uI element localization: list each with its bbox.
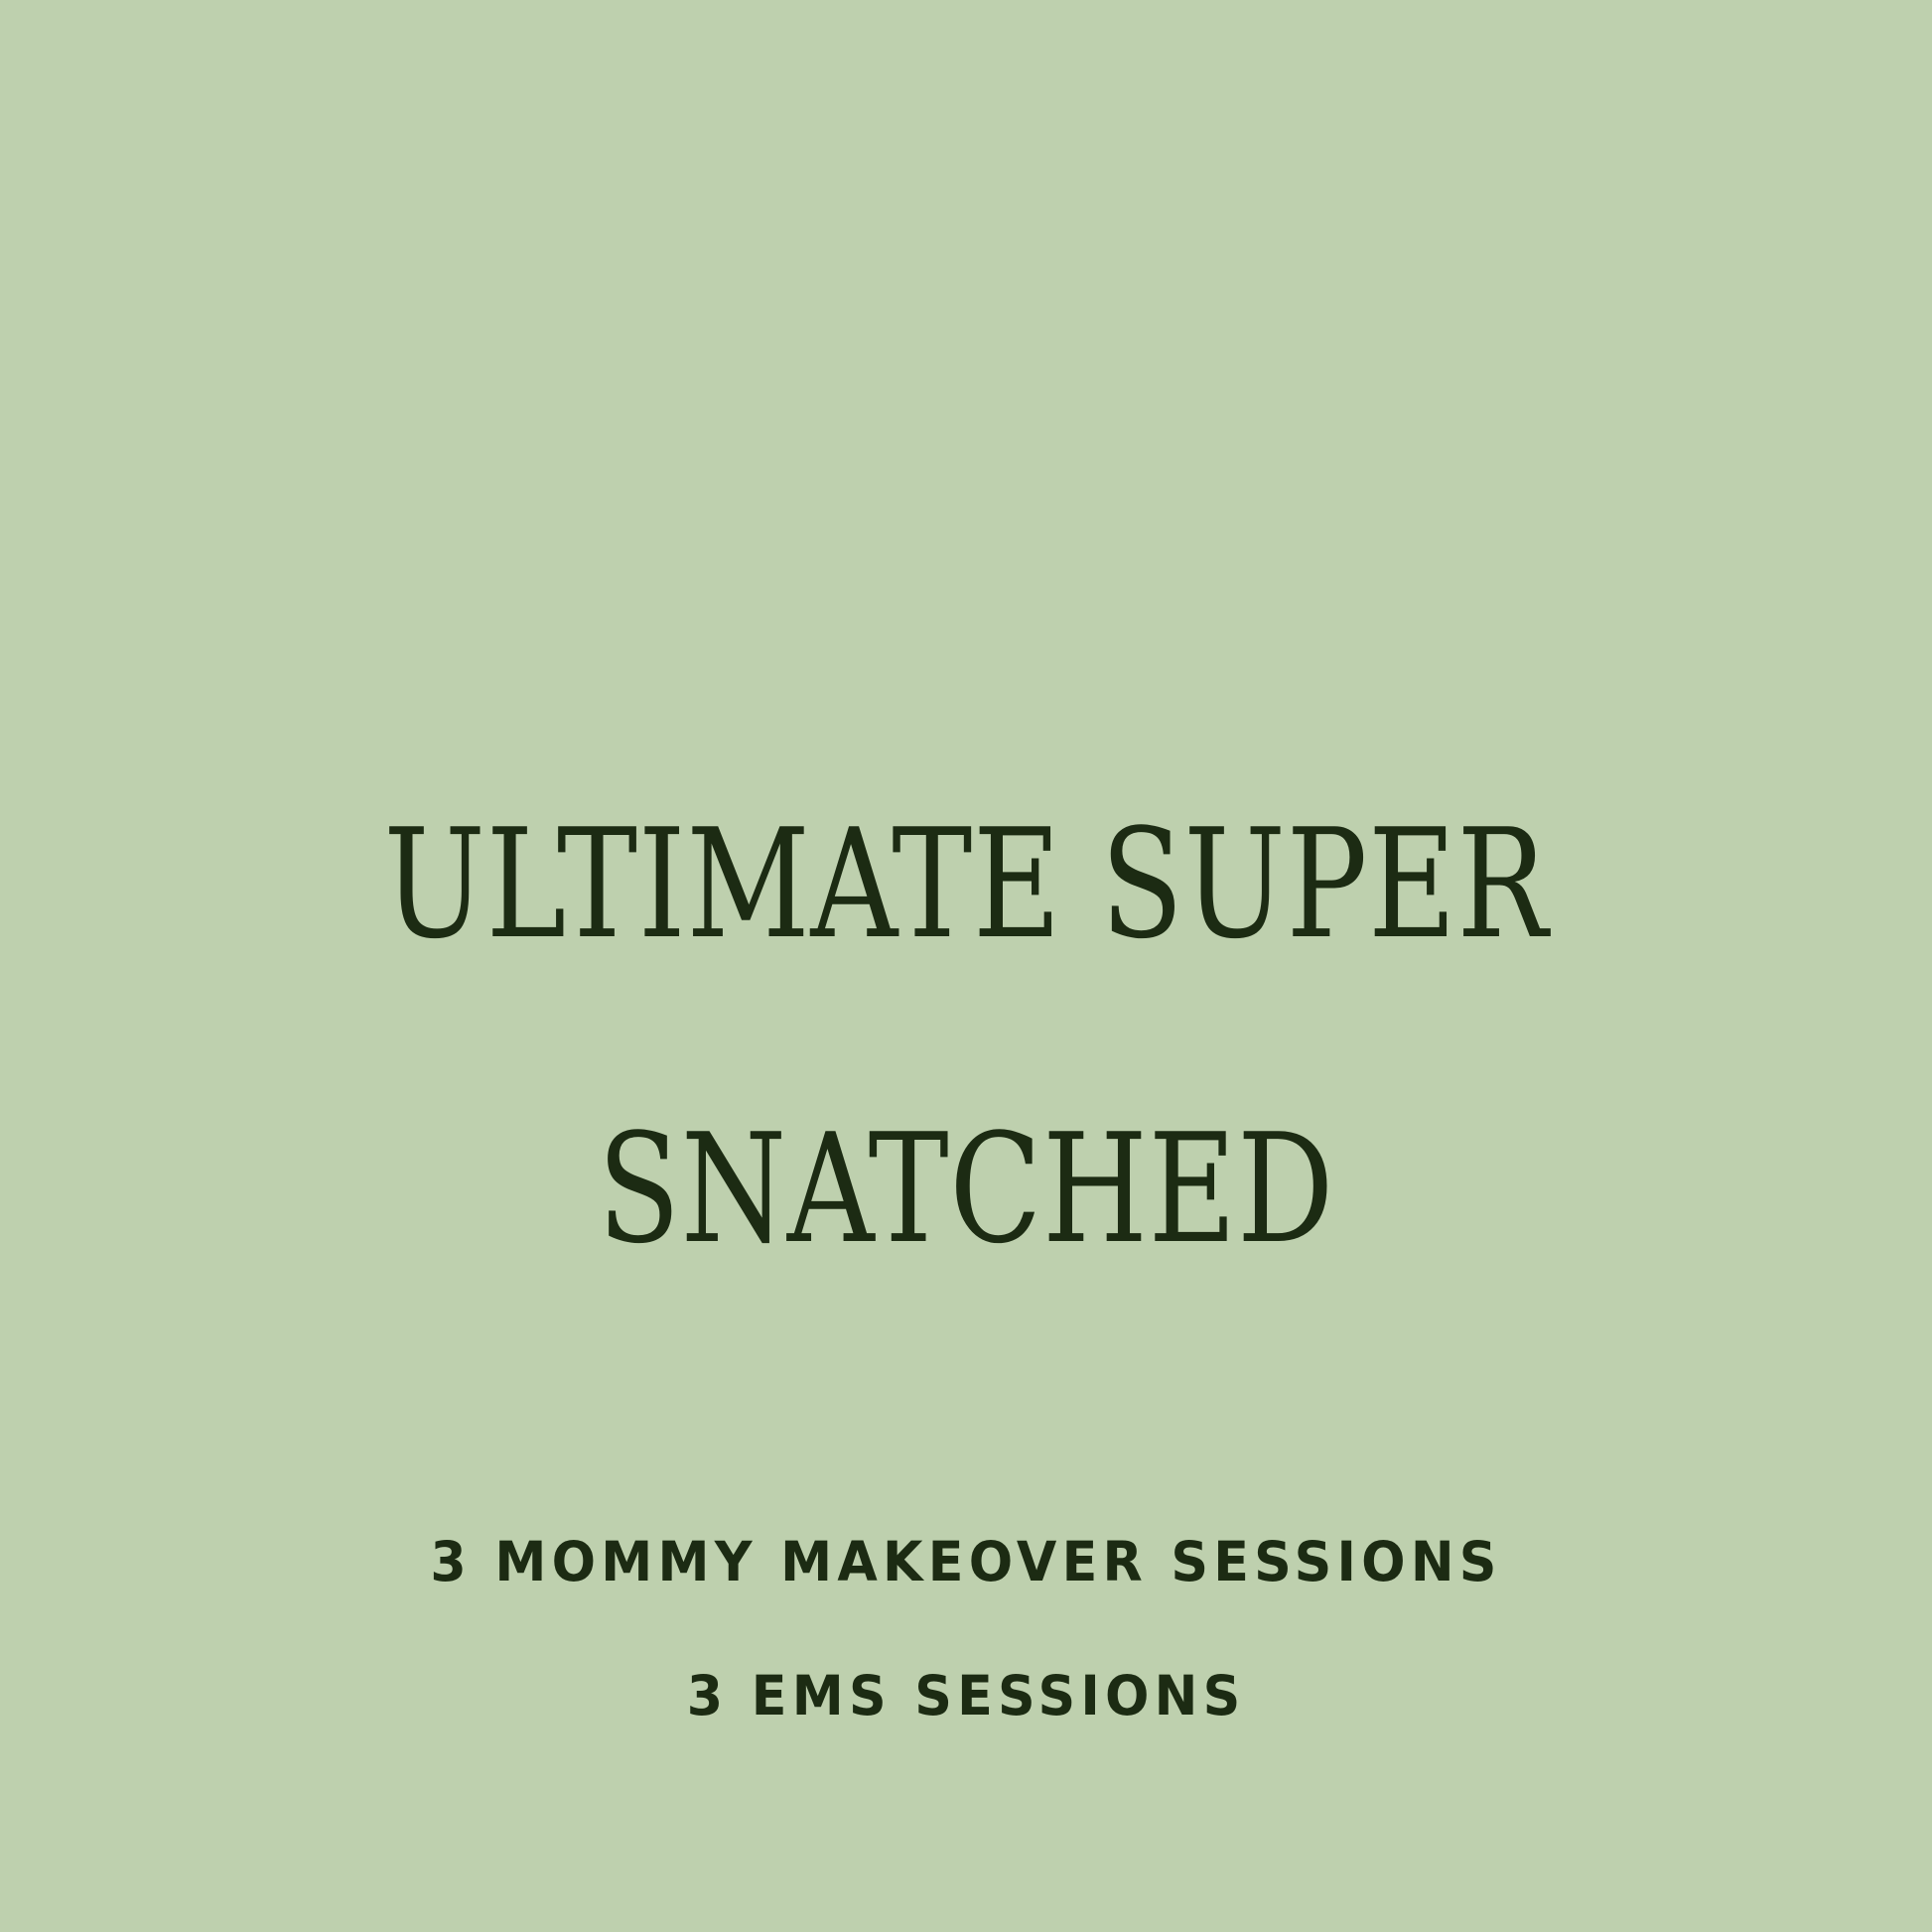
- card-content: ULTIMATE SUPER SNATCHED 3 MOMMY MAKEOVER…: [0, 655, 1932, 1724]
- package-details-list: 3 MOMMY MAKEOVER SESSIONS 3 EMS SESSIONS: [402, 1535, 1530, 1724]
- headline-line-2: SNATCHED: [346, 1113, 1586, 1266]
- package-card: ULTIMATE SUPER SNATCHED 3 MOMMY MAKEOVER…: [0, 0, 1932, 1932]
- page-title: ULTIMATE SUPER SNATCHED: [346, 655, 1586, 1418]
- package-detail-mommy-makeover: 3 MOMMY MAKEOVER SESSIONS: [430, 1535, 1501, 1589]
- package-detail-ems: 3 EMS SESSIONS: [687, 1669, 1246, 1724]
- headline-line-1: ULTIMATE SUPER: [346, 808, 1586, 961]
